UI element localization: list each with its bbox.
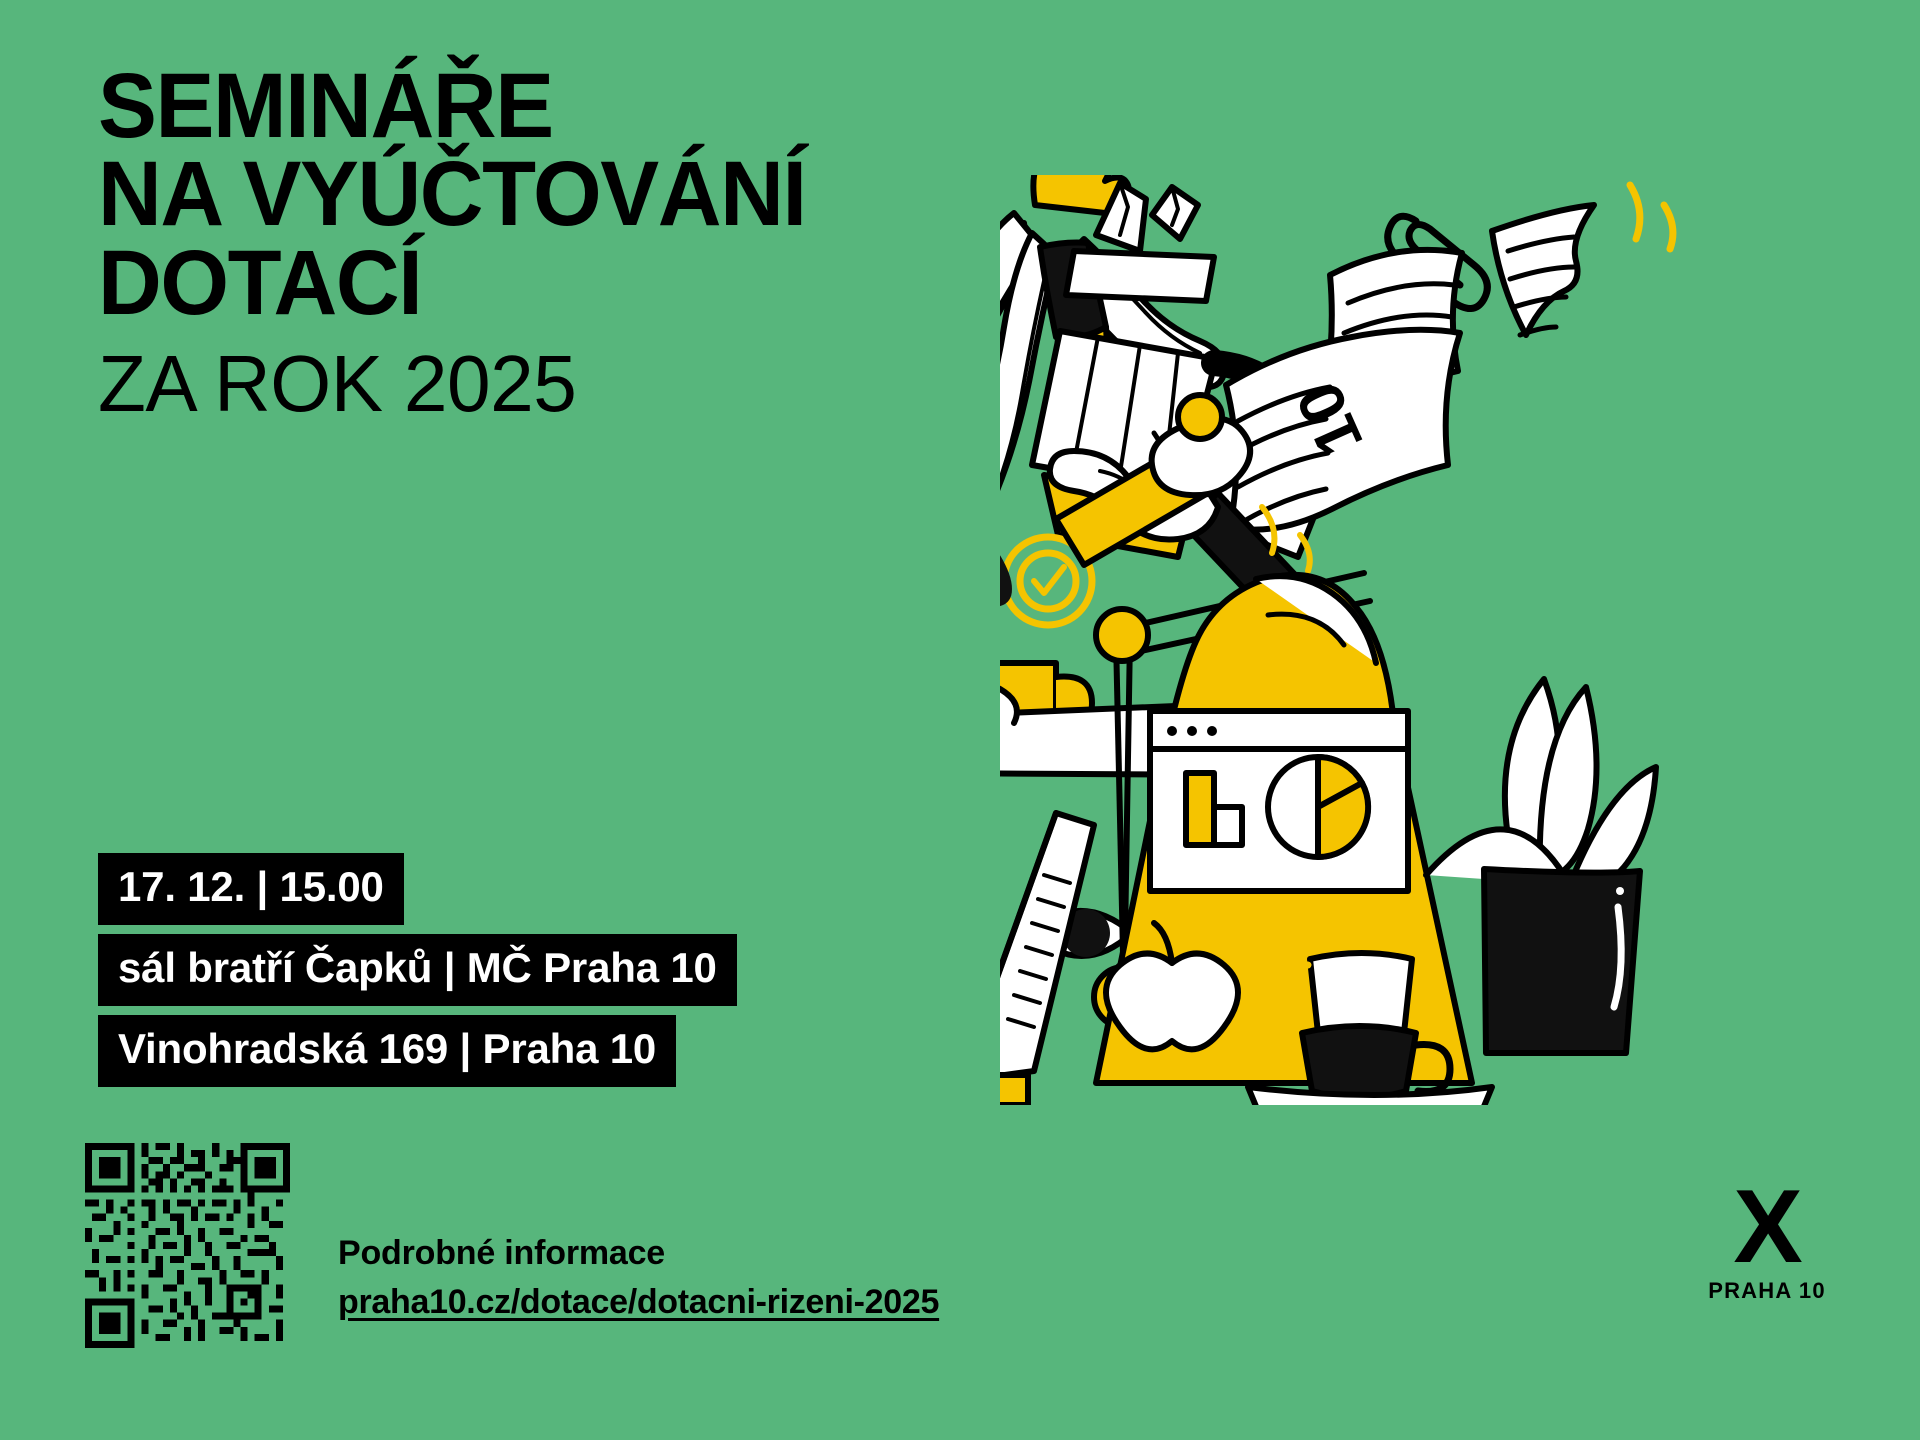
headline-subline: ZA ROK 2025 [98, 341, 820, 427]
praha10-logo: X PRAHA 10 [1692, 1183, 1842, 1304]
headline-line-2: NA VYÚČTOVÁNÍ [98, 150, 806, 238]
logo-x-mark: X [1692, 1183, 1842, 1272]
browser-chart-window [1150, 711, 1408, 891]
info-box-address: Vinohradská 169 | Praha 10 [98, 1015, 676, 1087]
illustration: 10 [1000, 175, 1800, 1105]
info-box-venue: sál bratří Čapků | MČ Praha 10 [98, 934, 737, 1006]
potted-plant [1426, 679, 1656, 1053]
footer-info: Podrobné informace praha10.cz/dotace/dot… [338, 1232, 939, 1323]
qr-code[interactable] [85, 1143, 290, 1348]
footer-url-link[interactable]: praha10.cz/dotace/dotacni-rizeni-2025 [338, 1281, 939, 1324]
info-box-datetime: 17. 12. | 15.00 [98, 853, 404, 925]
poster-canvas: SEMINÁŘE NA VYÚČTOVÁNÍ DOTACÍ ZA ROK 202… [0, 0, 1920, 1440]
headline-line-3: DOTACÍ [98, 239, 806, 327]
headline-line-1: SEMINÁŘE [98, 62, 806, 150]
footer-info-label: Podrobné informace [338, 1232, 939, 1275]
page-title: SEMINÁŘE NA VYÚČTOVÁNÍ DOTACÍ ZA ROK 202… [98, 62, 835, 427]
documents: 10 [1226, 185, 1673, 530]
event-details: 17. 12. | 15.00 sál bratří Čapků | MČ Pr… [98, 853, 737, 1096]
logo-caption: PRAHA 10 [1692, 1278, 1842, 1304]
